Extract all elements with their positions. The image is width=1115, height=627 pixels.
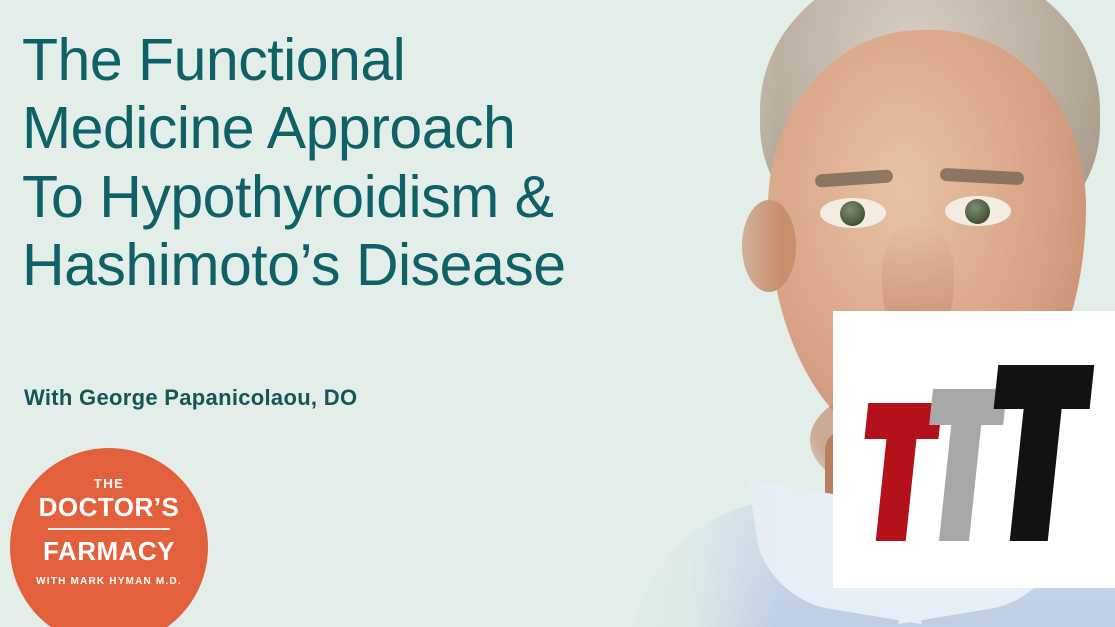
badge-line-the: THE xyxy=(10,476,208,491)
badge-line-doctors: DOCTOR’S xyxy=(10,492,208,523)
portrait-iris-right xyxy=(965,199,990,224)
portrait-iris-left xyxy=(840,201,865,226)
portrait-eye-right xyxy=(945,196,1011,226)
episode-cover-image: The Functional Medicine Approach To Hypo… xyxy=(0,0,1115,627)
badge-divider xyxy=(48,528,170,530)
ttt-logo-icon xyxy=(861,361,1087,541)
page-title: The Functional Medicine Approach To Hypo… xyxy=(22,26,782,300)
portrait-eye-left xyxy=(820,198,886,228)
badge-line-host: WITH MARK HYMAN M.D. xyxy=(10,576,208,587)
ttt-letter-3 xyxy=(980,365,1094,541)
guest-credit: With George Papanicolaou, DO xyxy=(24,385,357,411)
badge-line-farmacy: FARMACY xyxy=(10,536,208,567)
ttt-logo-card xyxy=(833,311,1115,588)
